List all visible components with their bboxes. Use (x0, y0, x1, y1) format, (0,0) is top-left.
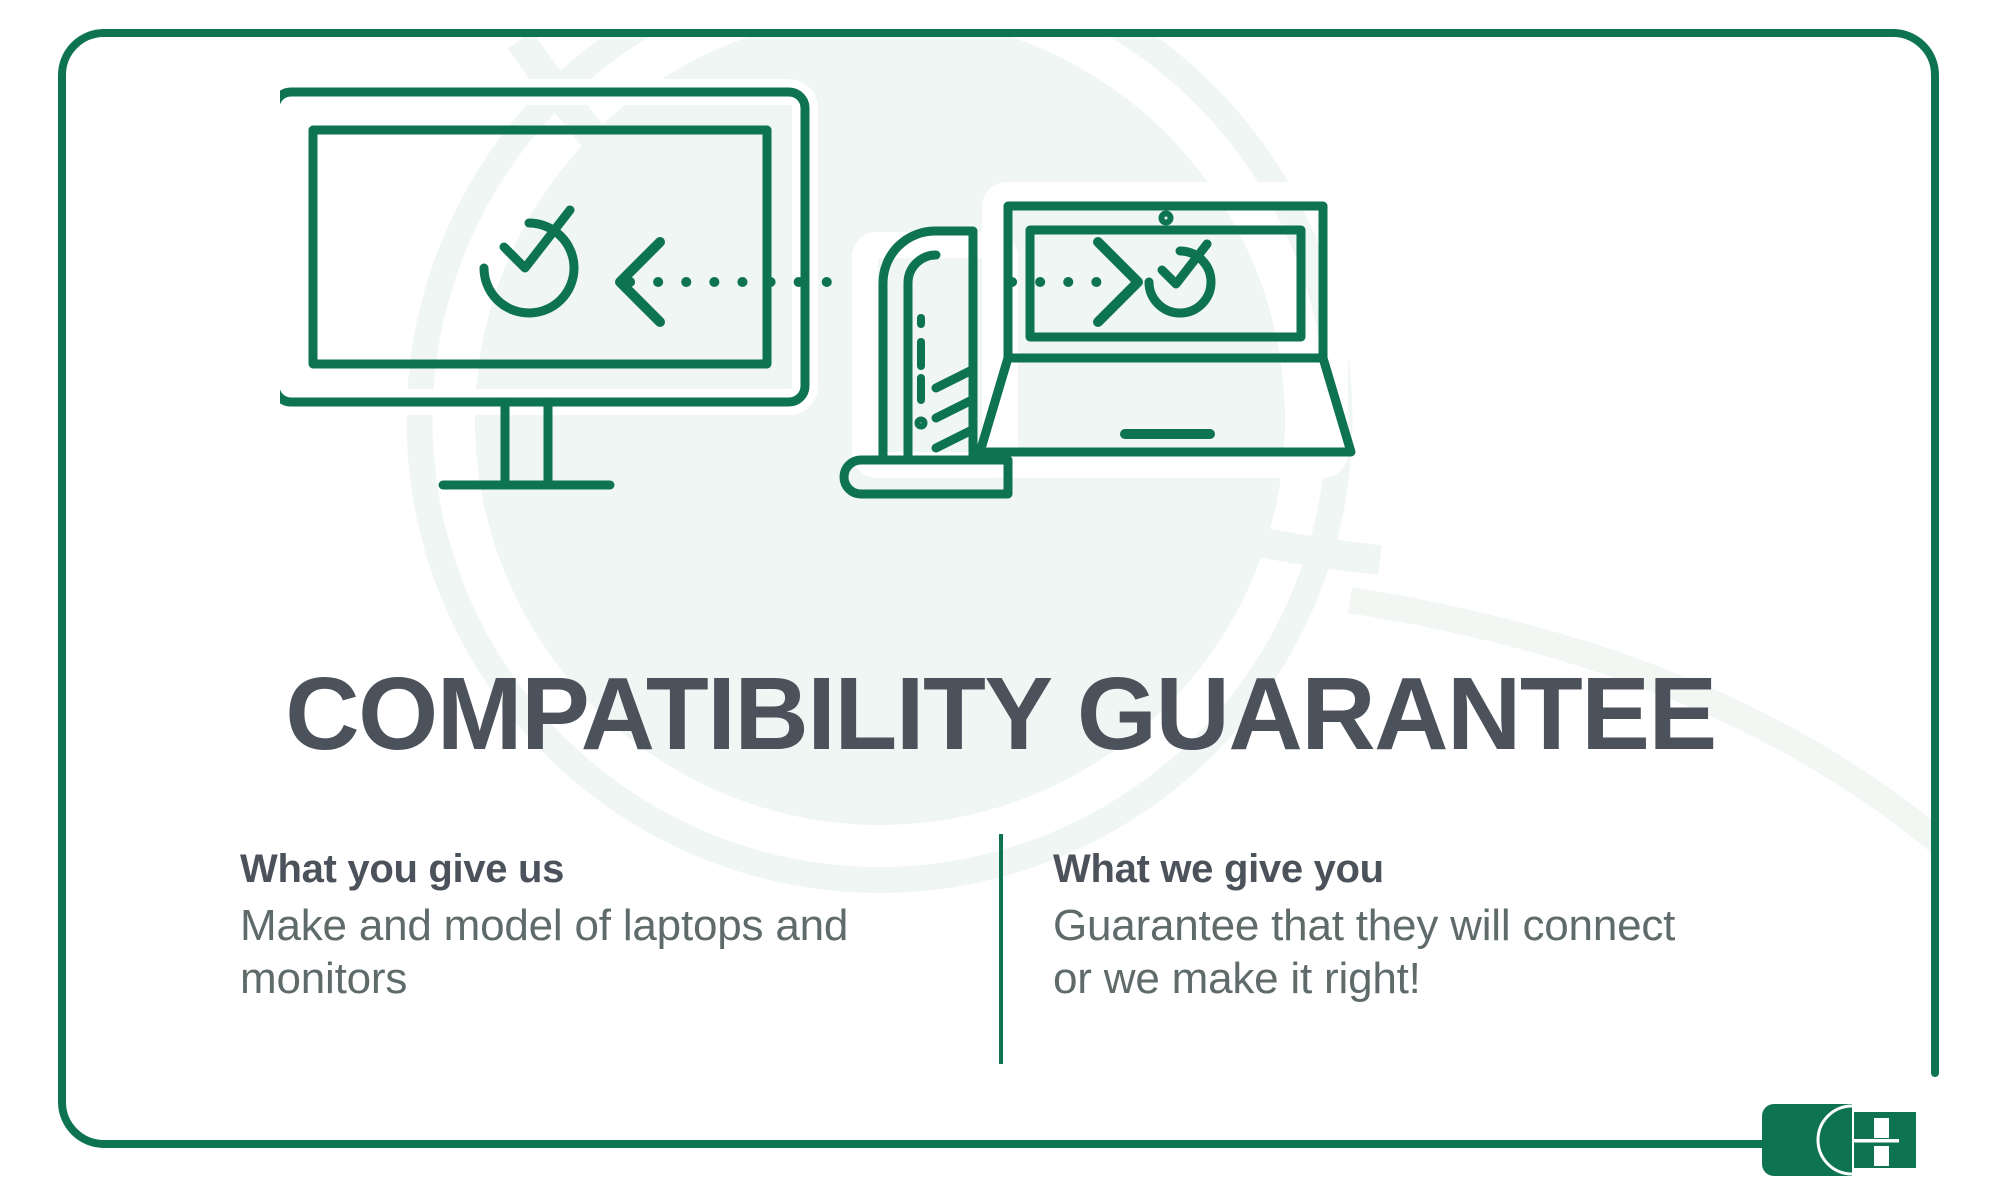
check-circle-icon-laptop (1149, 244, 1211, 313)
check-circle-icon-monitor (484, 210, 574, 313)
infographic-card: COMPATIBILITY GUARANTEE What you give us… (0, 0, 2001, 1201)
detail-columns: What you give us Make and model of lapto… (240, 845, 1800, 1005)
column-body: Make and model of laptops and monitors (240, 900, 920, 1006)
column-heading: What we give you (1053, 845, 1680, 894)
column-body: Guarantee that they will connect or we m… (1053, 900, 1680, 1006)
column-what-you-give-us: What you give us Make and model of lapto… (240, 845, 960, 1005)
column-what-we-give-you: What we give you Guarantee that they wil… (960, 845, 1680, 1005)
column-heading: What you give us (240, 845, 920, 894)
usb-flash-drive-logo (1762, 1104, 1942, 1176)
page-title: COMPATIBILITY GUARANTEE (0, 662, 2001, 765)
device-illustration (280, 70, 1400, 520)
laptop-icon (980, 206, 1351, 452)
desktop-monitor-icon (280, 92, 805, 485)
